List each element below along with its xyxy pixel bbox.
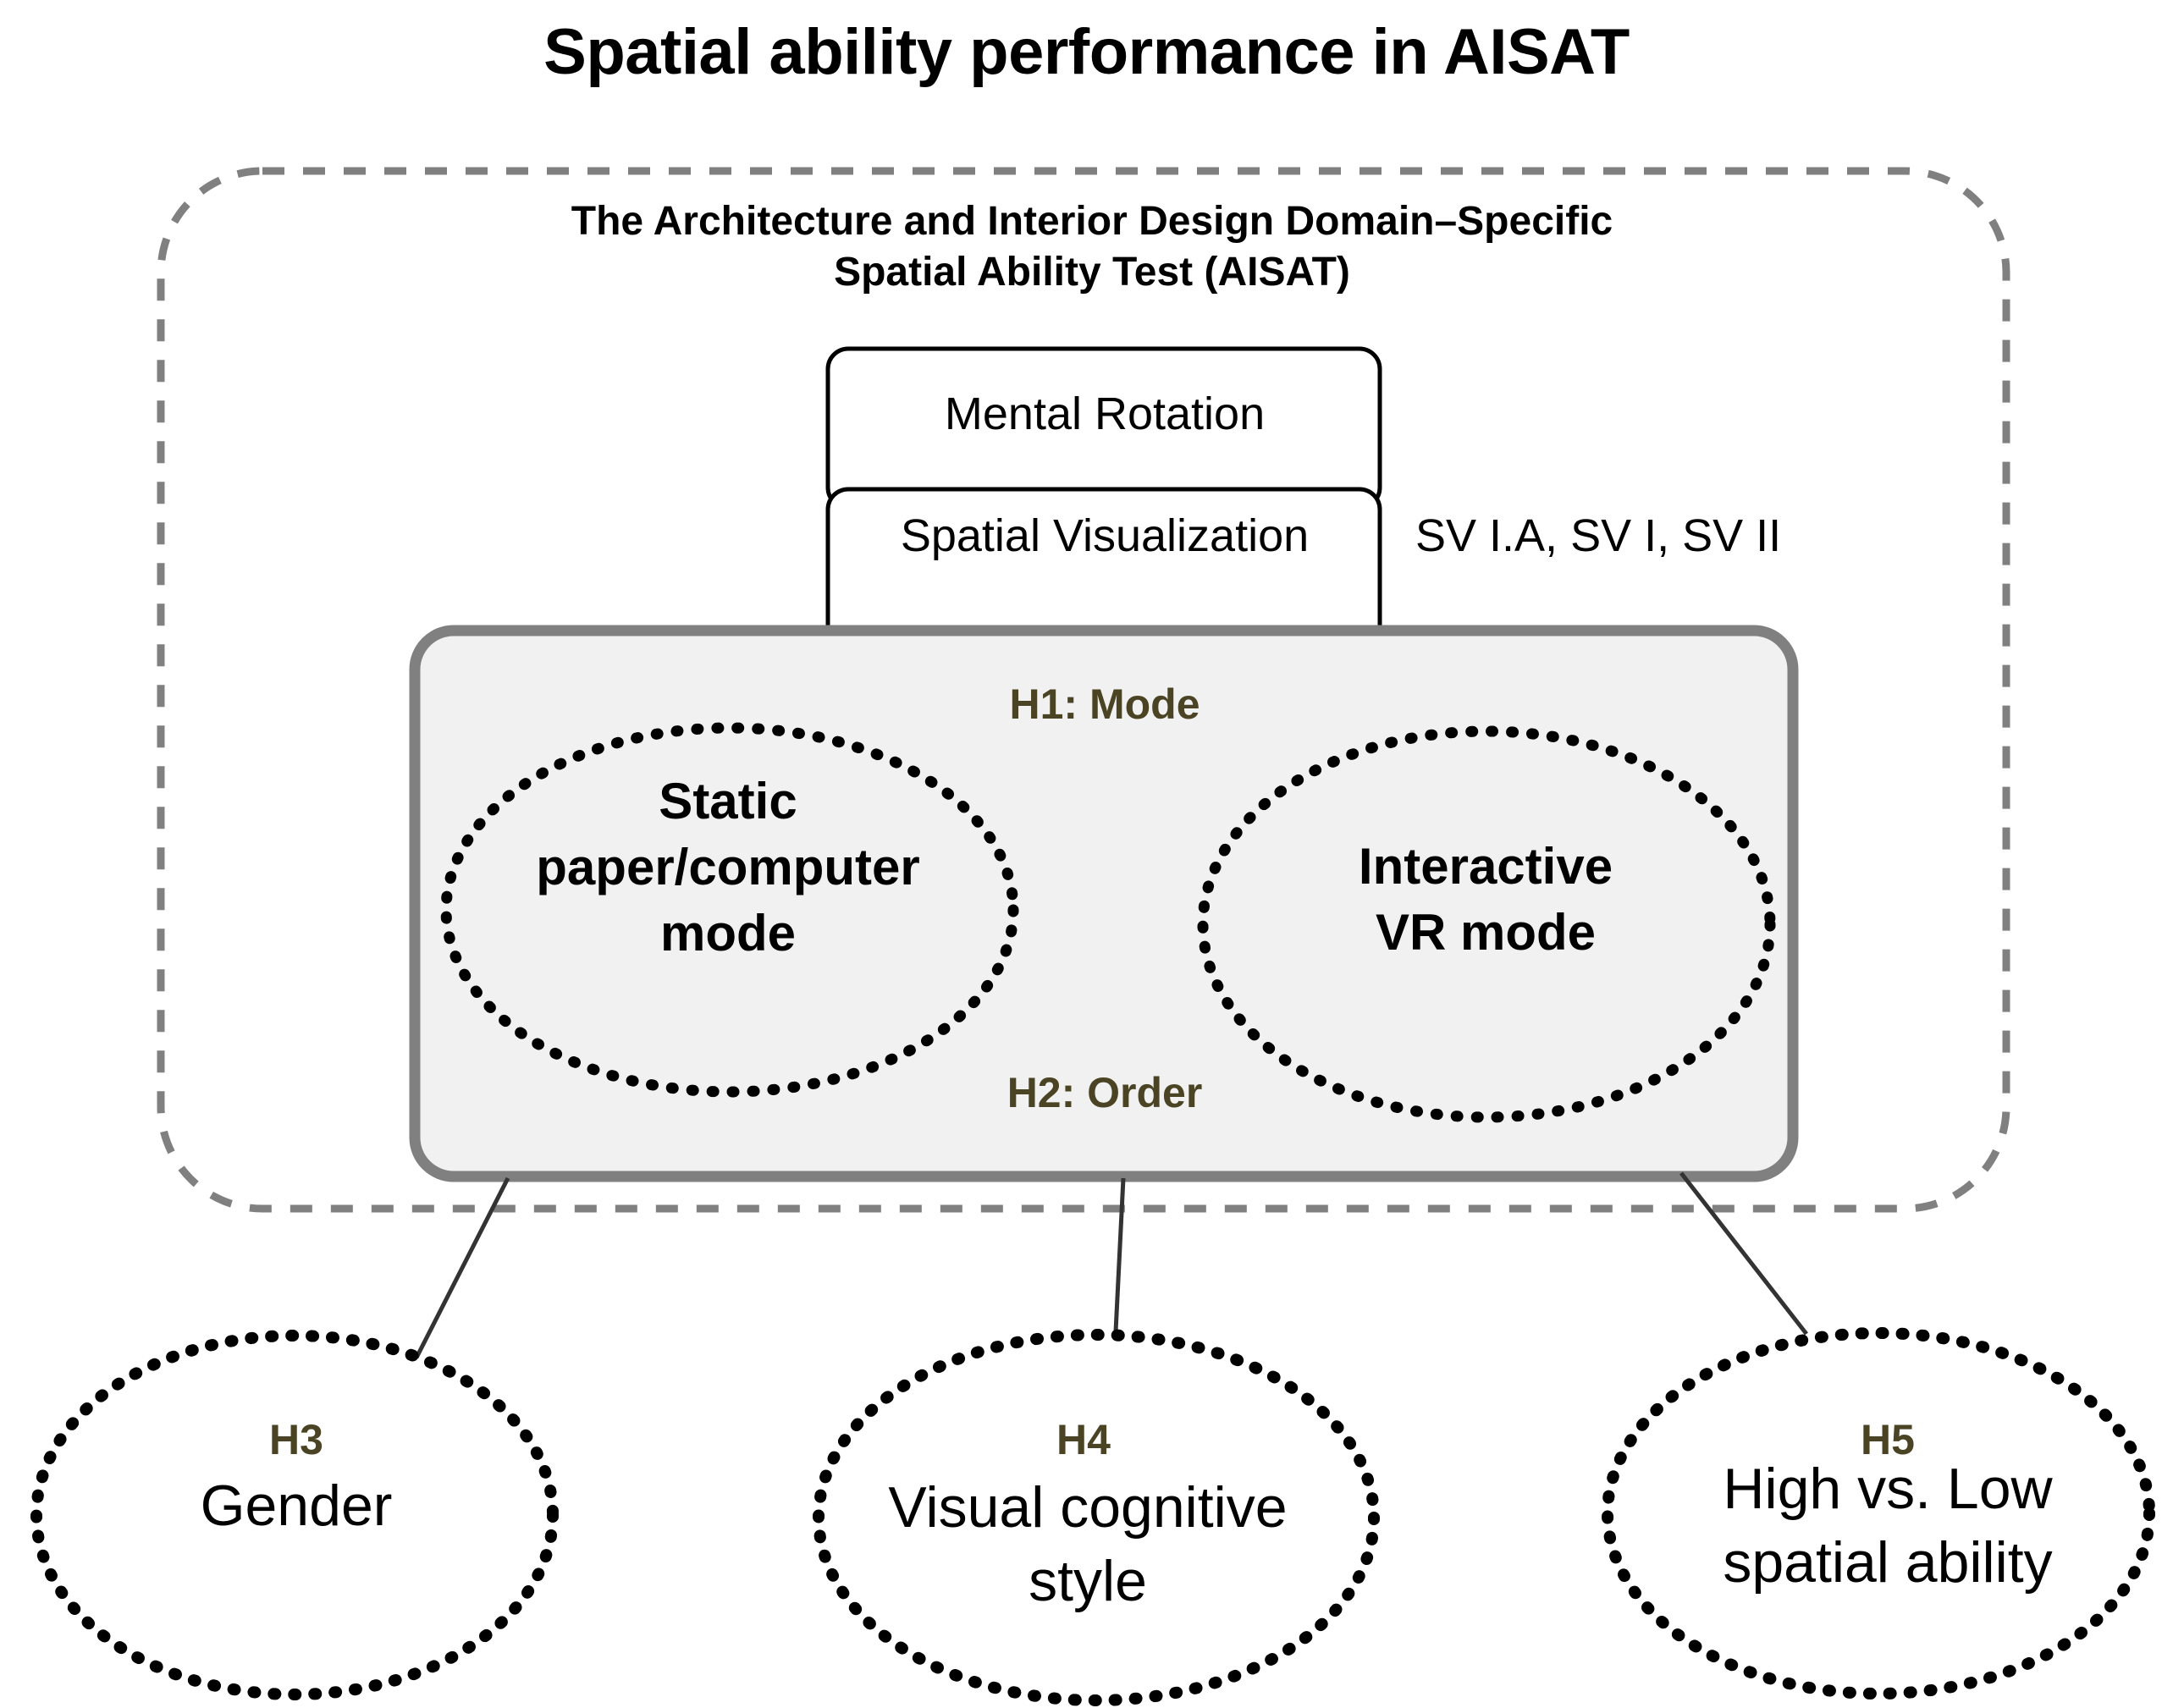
spatial-visualization-label: Spatial Visualization [823, 510, 1387, 563]
aisat-test-heading: The Architecture and Interior Design Dom… [339, 196, 1845, 299]
h4-tag-label: H4 [940, 1415, 1227, 1464]
page-title: Spatial ability performance in AISAT [0, 15, 2173, 90]
diagram-canvas: Spatial ability performance in AISAT The… [0, 0, 2173, 1708]
vr-mode-label: Interactive VR mode [1236, 834, 1735, 966]
connector-to-h5 [1681, 1173, 1806, 1334]
h4-label: Visual cognitive style [813, 1471, 1363, 1618]
h3-tag-label: H3 [152, 1415, 440, 1464]
mental-rotation-label: Mental Rotation [825, 388, 1384, 441]
static-mode-label: Static paper/computer mode [474, 769, 982, 967]
h3-label: Gender [85, 1473, 508, 1540]
h2-order-label: H2: Order [893, 1068, 1316, 1117]
connector-to-h4 [1116, 1178, 1123, 1331]
h5-label: High vs. Low spatial ability [1608, 1452, 2167, 1600]
sv-subtests-label: SV I.A, SV I, SV II [1415, 510, 1940, 563]
h1-mode-label: H1: Mode [893, 680, 1316, 729]
